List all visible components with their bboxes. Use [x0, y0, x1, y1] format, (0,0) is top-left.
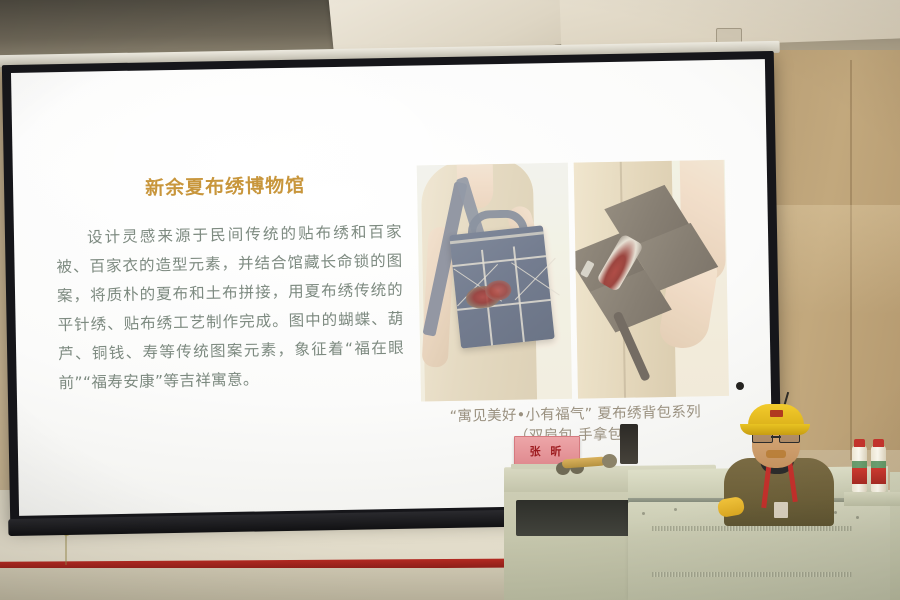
podium-device[interactable] [620, 424, 638, 464]
podium-left-recess [516, 500, 646, 536]
podium-mark [642, 512, 645, 515]
slide-body-text: 设计灵感来源于民间传统的贴布绣和百家被、百家衣的造型元素，并结合馆藏长命锁的图案… [56, 218, 405, 398]
speaker-mouth [766, 450, 786, 458]
microphone-head[interactable] [602, 454, 617, 468]
water-bottle[interactable] [871, 446, 886, 492]
podium-vent [652, 572, 852, 577]
bottle-label [852, 468, 867, 484]
screenshot-root: 新余夏布绣博物馆 设计灵感来源于民间传统的贴布绣和百家被、百家衣的造型元素，并结… [0, 0, 900, 600]
seated-speaker [720, 404, 838, 522]
backpack-photo [417, 163, 572, 402]
embroidered-backpack [449, 225, 554, 348]
bottle-label [871, 468, 886, 484]
cap-logo [770, 410, 783, 417]
water-bottle[interactable] [852, 446, 867, 492]
podium-vent [652, 526, 852, 531]
podium-mark [674, 508, 677, 511]
bottle-cap [873, 439, 884, 447]
ceiling-dark-panel [0, 0, 360, 56]
bottle-label-band [871, 461, 886, 468]
bottle-cap [854, 439, 865, 447]
water-bottles [852, 440, 892, 492]
bag-grid-line [452, 255, 546, 266]
speaker-badge [774, 502, 788, 518]
slide-title: 新余夏布绣博物馆 [145, 171, 305, 201]
speaker-cap-brim [740, 424, 810, 435]
clutch-photo [574, 160, 729, 399]
bottle-label-band [852, 461, 867, 468]
nameplate-text: 张 昕 [530, 443, 565, 459]
slide-photo-pair [417, 160, 729, 402]
bottle-shelf [844, 492, 900, 506]
gooseneck-microphone-head[interactable] [736, 382, 744, 390]
podium-mark [856, 516, 859, 519]
bag-zipper [450, 231, 544, 244]
